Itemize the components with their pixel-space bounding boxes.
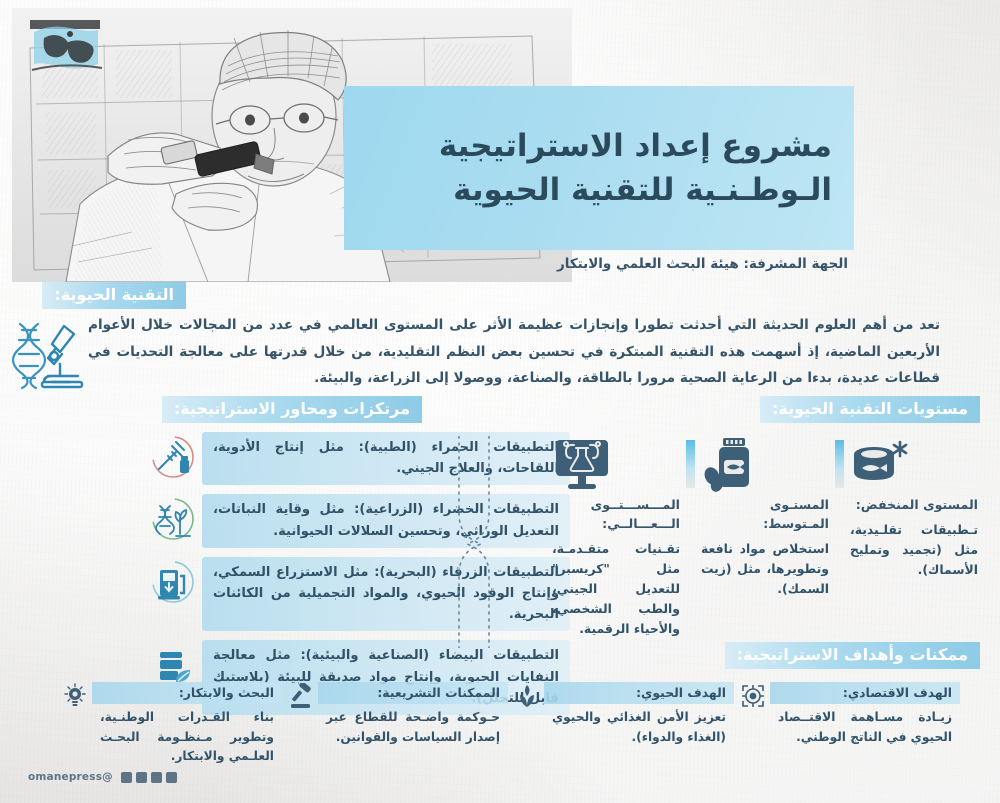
enabler-title: البحث والابتكار: — [92, 682, 282, 704]
list-item[interactable]: الهدف الحيوي: تعزيز الأمن الغذائي والحيو… — [514, 682, 734, 767]
section-heading-biotech: التقنية الحيوية: — [42, 282, 186, 309]
hero-title-band: مشروع إعداد الاستراتيجية الـوطـنـية للتق… — [344, 86, 854, 250]
hero-title-line-1: مشروع إعداد الاستراتيجية — [370, 124, 832, 168]
section-heading-enablers: ممكنات وأهداف الاستراتيجية: — [725, 642, 980, 669]
infographic-page: مشروع إعداد الاستراتيجية الـوطـنـية للتق… — [0, 0, 1000, 803]
enabler-body: البحث والابتكار: بناء القـدرات الوطنـية،… — [92, 682, 282, 767]
social-handle[interactable]: @omanepress — [28, 771, 113, 783]
level-text: تقـنيات متقـدمـة، مثل "كريسبر" للتعديل ا… — [552, 539, 680, 639]
x-icon[interactable] — [151, 772, 162, 783]
enabler-title: الهدف الاقتصادي: — [770, 682, 960, 704]
level-icon-wrap — [552, 430, 680, 496]
level-text: تـطبيقات تقلـيدية، مثل (تجميد وتمليح الأ… — [850, 520, 978, 580]
level-separator — [686, 440, 695, 488]
gavel-icon — [288, 683, 314, 709]
level-separator — [835, 440, 844, 488]
levels-list: المستوى المنخفض: تـطبيقات تقلـيدية، مثل … — [514, 430, 984, 639]
list-item[interactable]: البحث والابتكار: بناء القـدرات الوطنـية،… — [62, 682, 282, 767]
levels-heading-label: مستويات التقنية الحيوية: — [760, 396, 980, 423]
level-title: المـــســـتــوى الـــعـــالــي: — [552, 496, 680, 534]
list-item[interactable]: المستوى المنخفض: تـطبيقات تقلـيدية، مثل … — [844, 430, 984, 639]
youtube-icon[interactable] — [136, 772, 147, 783]
sprout-leaf-icon — [514, 683, 540, 709]
dna-microscope-icon — [8, 316, 88, 394]
enabler-text: بناء القـدرات الوطنـية، وتطوير مـنظـومة … — [92, 704, 282, 767]
level-title: المستوى المنخفض: — [850, 496, 978, 515]
list-item[interactable]: الهدف الاقتصادي: زيـادة مسـاهمة الاقتــص… — [740, 682, 960, 767]
social-bar: @omanepress — [28, 771, 177, 783]
biofuel-pump-icon — [150, 559, 196, 605]
hero-subtitle: الجهة المشرفة: هيئة البحث العلمي والابتك… — [557, 256, 848, 272]
level-title: المستـوى المـتوسط: — [701, 496, 829, 534]
enabler-body: الممكنات التشريعية: حـوكمة واضـحة للقطاع… — [318, 682, 508, 747]
enablers-heading-label: ممكنات وأهداف الاستراتيجية: — [725, 642, 980, 669]
level-icon-wrap — [701, 430, 829, 496]
enabler-body: الهدف الحيوي: تعزيز الأمن الغذائي والحيو… — [544, 682, 734, 747]
dna-plant-icon — [150, 496, 196, 542]
enabler-text: حـوكمة واضـحة للقطاع عبر إصدار السياسات … — [318, 704, 508, 747]
dna-dotted-divider — [437, 436, 511, 648]
enabler-title: الهدف الحيوي: — [544, 682, 734, 704]
hero-section: مشروع إعداد الاستراتيجية الـوطـنـية للتق… — [0, 0, 1000, 282]
list-item[interactable]: الممكنات التشريعية: حـوكمة واضـحة للقطاع… — [288, 682, 508, 767]
computer-flask-icon — [552, 436, 612, 492]
pillars-heading-label: مرتكزات ومحاور الاستراتيجية: — [162, 396, 422, 423]
lightbulb-idea-icon — [62, 683, 88, 709]
oman-logo[interactable] — [24, 14, 108, 78]
facebook-icon[interactable] — [121, 772, 132, 783]
intro-heading-label: التقنية الحيوية: — [42, 282, 186, 309]
intro-paragraph: تعد من أهم العلوم الحديثة التي أحدثت تطو… — [88, 312, 940, 392]
supplement-bottle-fish-icon — [701, 436, 759, 492]
list-item[interactable]: المـــســـتــوى الـــعـــالــي: تقـنيات … — [546, 430, 686, 639]
section-heading-levels: مستويات التقنية الحيوية: — [760, 396, 980, 423]
hero-title-line-2: الـوطـنـية للتقنية الحيوية — [370, 168, 832, 212]
canned-fish-frozen-icon — [850, 438, 908, 492]
level-text: استخلاص مواد نافعة وتطويرها، مثل (زيت ال… — [701, 539, 829, 599]
section-heading-pillars: مرتكزات ومحاور الاستراتيجية: — [162, 396, 422, 423]
instagram-icon[interactable] — [166, 772, 177, 783]
enabler-title: الممكنات التشريعية: — [318, 682, 508, 704]
syringe-vaccine-icon — [150, 434, 196, 480]
level-icon-wrap — [850, 430, 978, 496]
enablers-list: الهدف الاقتصادي: زيـادة مسـاهمة الاقتــص… — [56, 682, 986, 767]
enabler-text: تعزيز الأمن الغذائي والحيوي (الغذاء والد… — [544, 704, 734, 747]
enabler-text: زيـادة مسـاهمة الاقتــصاد الحيوي في النا… — [770, 704, 960, 747]
target-icon — [740, 683, 766, 709]
list-item[interactable]: المستـوى المـتوسط: استخلاص مواد نافعة وت… — [695, 430, 835, 639]
enabler-body: الهدف الاقتصادي: زيـادة مسـاهمة الاقتــص… — [770, 682, 960, 747]
